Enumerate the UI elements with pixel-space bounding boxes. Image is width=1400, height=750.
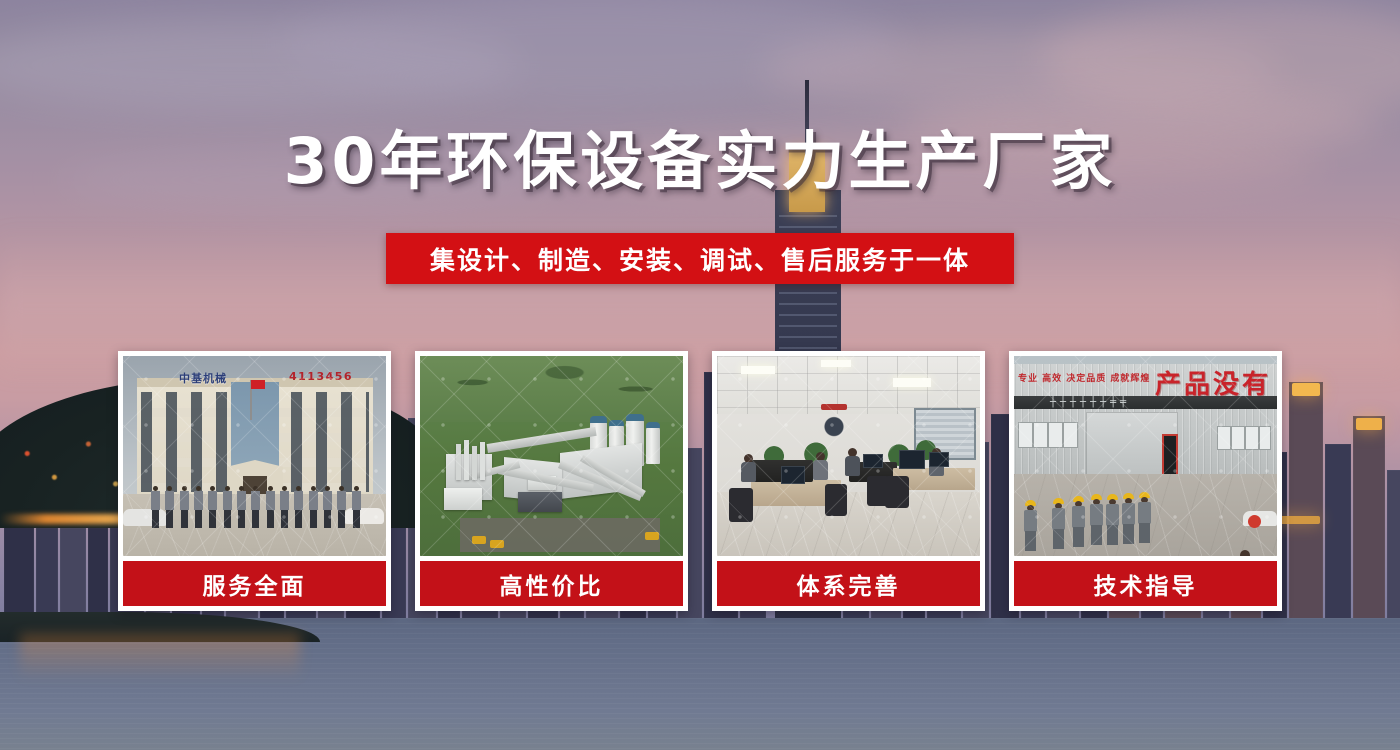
- card-photo-plant-aerial: [420, 356, 683, 556]
- factory-side-door: [1162, 434, 1178, 478]
- building-sign-text: 中基机械: [179, 370, 227, 386]
- promotional-banner: 30年环保设备实力生产厂家 集设计、制造、安装、调试、售后服务于一体 中基机械 …: [0, 0, 1400, 750]
- card-label-bar: 服务全面: [123, 561, 386, 606]
- subtitle-banner: 集设计、制造、安装、调试、售后服务于一体: [386, 233, 1014, 284]
- factory-wall-slogan-small: 专业 高效 决定品质 成就辉煌: [1018, 374, 1150, 386]
- card-photo-headquarters: 中基机械 4113456: [123, 356, 386, 556]
- card-label-text: 体系完善: [797, 567, 901, 601]
- card-label-text: 技术指导: [1094, 567, 1198, 601]
- staff-lineup: [151, 486, 361, 530]
- card-label-bar: 体系完善: [717, 561, 980, 606]
- red-helmet-icon: [1248, 515, 1261, 528]
- china-flag-icon: [251, 380, 265, 389]
- card-label-text: 高性价比: [500, 567, 604, 601]
- feature-card[interactable]: 中基机械 4113456: [118, 351, 391, 611]
- feature-card-row: 中基机械 4113456: [118, 351, 1282, 611]
- feature-card[interactable]: 体系完善: [712, 351, 985, 611]
- card-photo-office-interior: [717, 356, 980, 556]
- wall-logo-icon: [813, 408, 855, 438]
- subtitle-text: 集设计、制造、安装、调试、售后服务于一体: [430, 241, 970, 277]
- feature-card[interactable]: 高性价比: [415, 351, 688, 611]
- card-label-text: 服务全面: [203, 567, 307, 601]
- feature-card[interactable]: 产品没有 专业 高效 决定品质 成就辉煌 ┼┼┼┼┼┼╪╪: [1009, 351, 1282, 611]
- card-label-bar: 技术指导: [1014, 561, 1277, 606]
- card-label-bar: 高性价比: [420, 561, 683, 606]
- building-phone-text: 4113456: [289, 370, 353, 383]
- card-photo-workers-factory: 产品没有 专业 高效 决定品质 成就辉煌 ┼┼┼┼┼┼╪╪: [1014, 356, 1277, 556]
- water-reflection: [20, 634, 300, 680]
- banner-headline: 30年环保设备实力生产厂家: [0, 128, 1400, 196]
